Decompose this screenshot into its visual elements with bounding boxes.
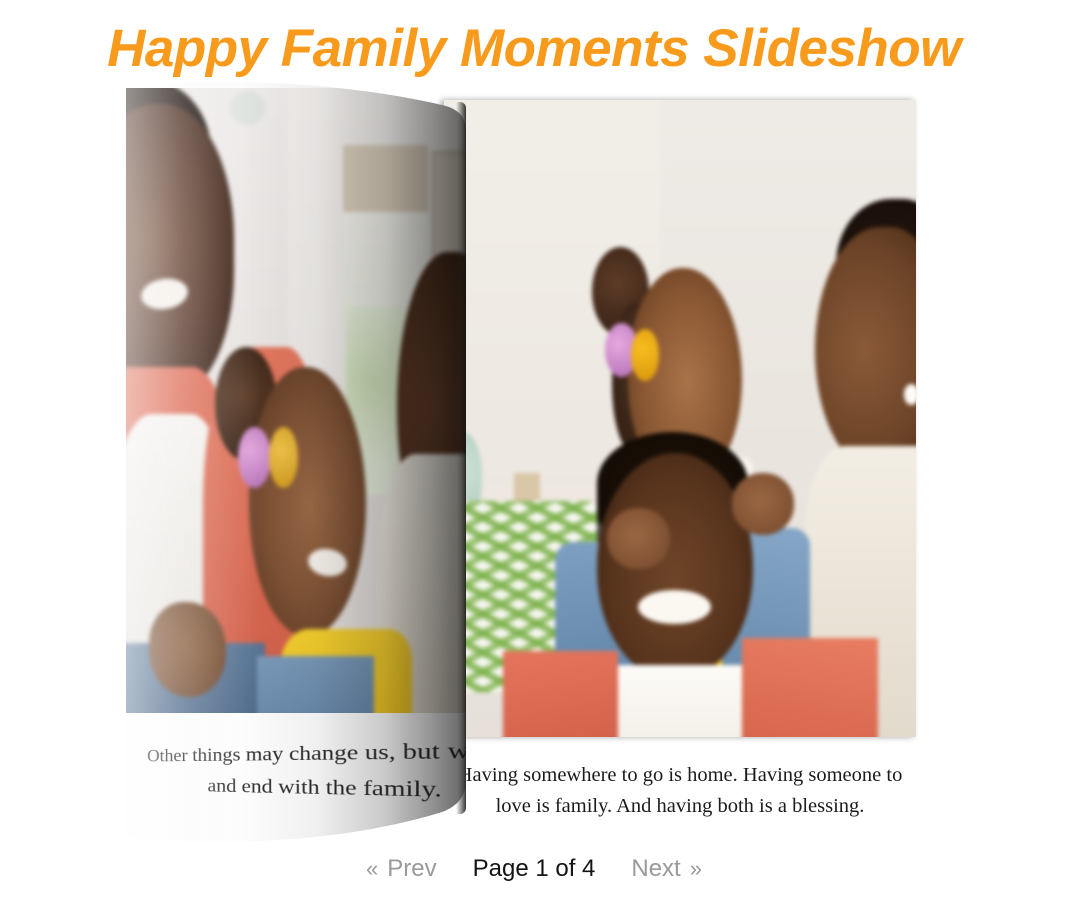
slide-caption-right: Having somewhere to go is home. Having s… [444,760,916,822]
father-coral-shirt-right [742,638,877,737]
slide-photo-left [126,88,466,713]
page-fold-shadow [456,102,466,814]
prev-button-label: Prev [387,855,436,883]
flipbook[interactable]: Having somewhere to go is home. Having s… [126,80,916,740]
double-chevron-right-icon: » [690,858,702,880]
page-title: Happy Family Moments Slideshow [0,18,1068,79]
father-smile [638,590,711,624]
girl-hair-clip-yellow [269,427,298,488]
slide-page-left-surface: Other things may change us, but we start… [126,80,466,870]
girl-hair-clip-yellow [631,329,660,380]
photo-blur-layer [444,100,916,737]
prev-button[interactable]: « Prev [366,855,437,883]
mother-earring [904,384,916,405]
photo-blur-layer [126,88,466,713]
slideshow-stage: Happy Family Moments Slideshow [0,0,1068,898]
slide-page-left[interactable]: Other things may change us, but we start… [126,80,466,870]
page-indicator: Page 1 of 4 [473,855,596,883]
slideshow-navigation: « Prev Page 1 of 4 Next » [0,855,1068,883]
father-face [597,453,753,679]
double-chevron-left-icon: « [366,858,378,880]
photo-scene-left [126,88,466,713]
girl-hand-right [732,473,794,535]
father-hand [149,602,227,696]
slide-page-right[interactable]: Having somewhere to go is home. Having s… [444,100,916,860]
scene-blind [343,145,428,212]
photo-scene-right [444,100,916,737]
slide-caption-left: Other things may change us, but we start… [126,727,466,813]
scene-ceiling-lamp [230,91,265,125]
next-button[interactable]: Next » [631,855,702,883]
father-coral-shirt-left [503,651,617,737]
girl-face [249,367,365,636]
girl-hair-clip-purple [238,427,271,488]
next-button-label: Next [631,855,680,883]
slide-photo-right [444,100,916,737]
girl-jeans [257,656,373,713]
girl-hand-left [607,508,669,570]
